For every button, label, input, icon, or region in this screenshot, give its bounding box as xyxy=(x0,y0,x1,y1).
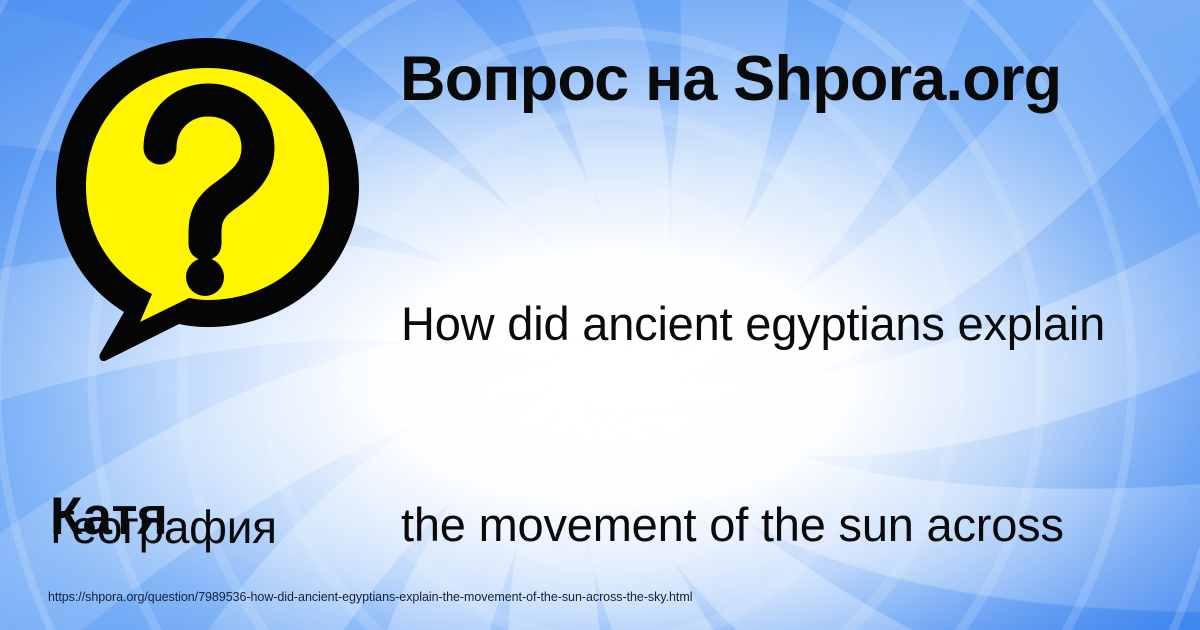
question-mark-speech-bubble-icon xyxy=(48,32,368,362)
question-share-card: Вопрос на Shpora.org How did ancient egy… xyxy=(0,0,1200,630)
source-url[interactable]: https://shpora.org/question/7989536-how-… xyxy=(48,590,692,604)
question-text: How did ancient egyptians explain the mo… xyxy=(401,156,1200,630)
page-title: Вопрос на Shpora.org xyxy=(400,46,1061,112)
question-mark-dot xyxy=(186,258,224,296)
question-line: the movement of the sun across xyxy=(401,491,1200,558)
question-line: How did ancient egyptians explain xyxy=(401,290,1200,357)
subject-label: География xyxy=(50,500,277,554)
